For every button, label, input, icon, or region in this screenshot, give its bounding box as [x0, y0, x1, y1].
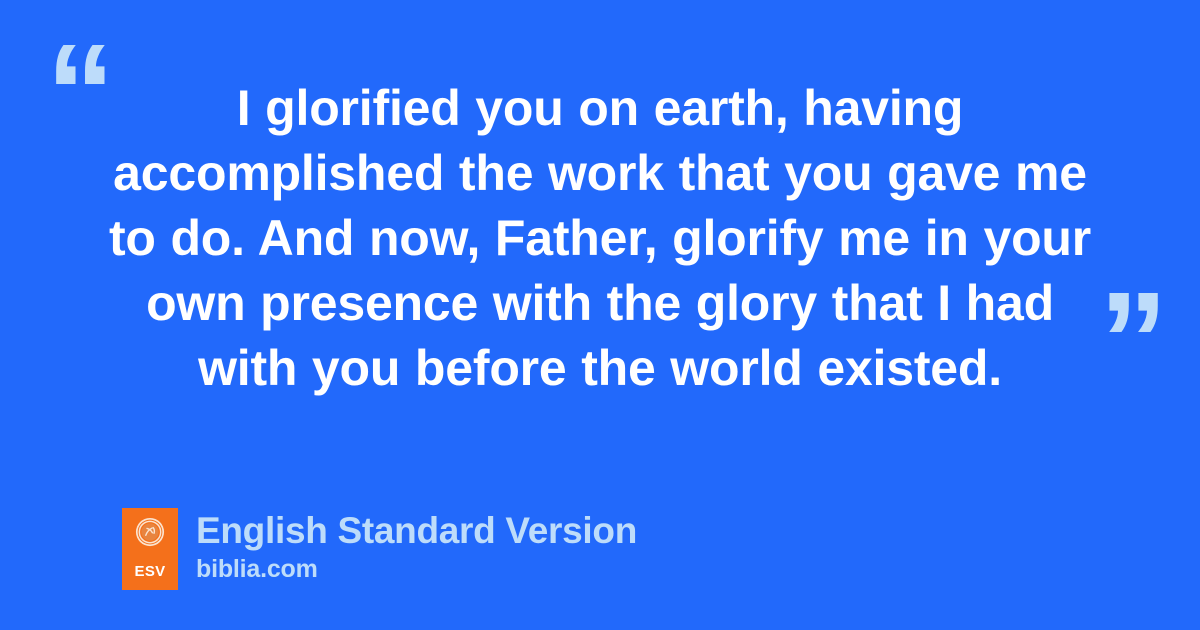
quote-block: I glorified you on earth, having accompl…: [108, 76, 1092, 401]
opening-quote-icon: “: [46, 24, 113, 162]
closing-quote-icon: ”: [1099, 272, 1166, 410]
attribution[interactable]: ESV English Standard Version biblia.com: [122, 508, 637, 590]
attribution-text: English Standard Version biblia.com: [196, 508, 637, 584]
verse-text: I glorified you on earth, having accompl…: [108, 76, 1092, 401]
bible-verse-card: “ I glorified you on earth, having accom…: [0, 0, 1200, 630]
esv-abbreviation: ESV: [135, 564, 166, 579]
site-name[interactable]: biblia.com: [196, 554, 637, 584]
esv-seal-icon: [135, 517, 165, 547]
esv-logo[interactable]: ESV: [122, 508, 178, 590]
bible-version-name: English Standard Version: [196, 510, 637, 552]
